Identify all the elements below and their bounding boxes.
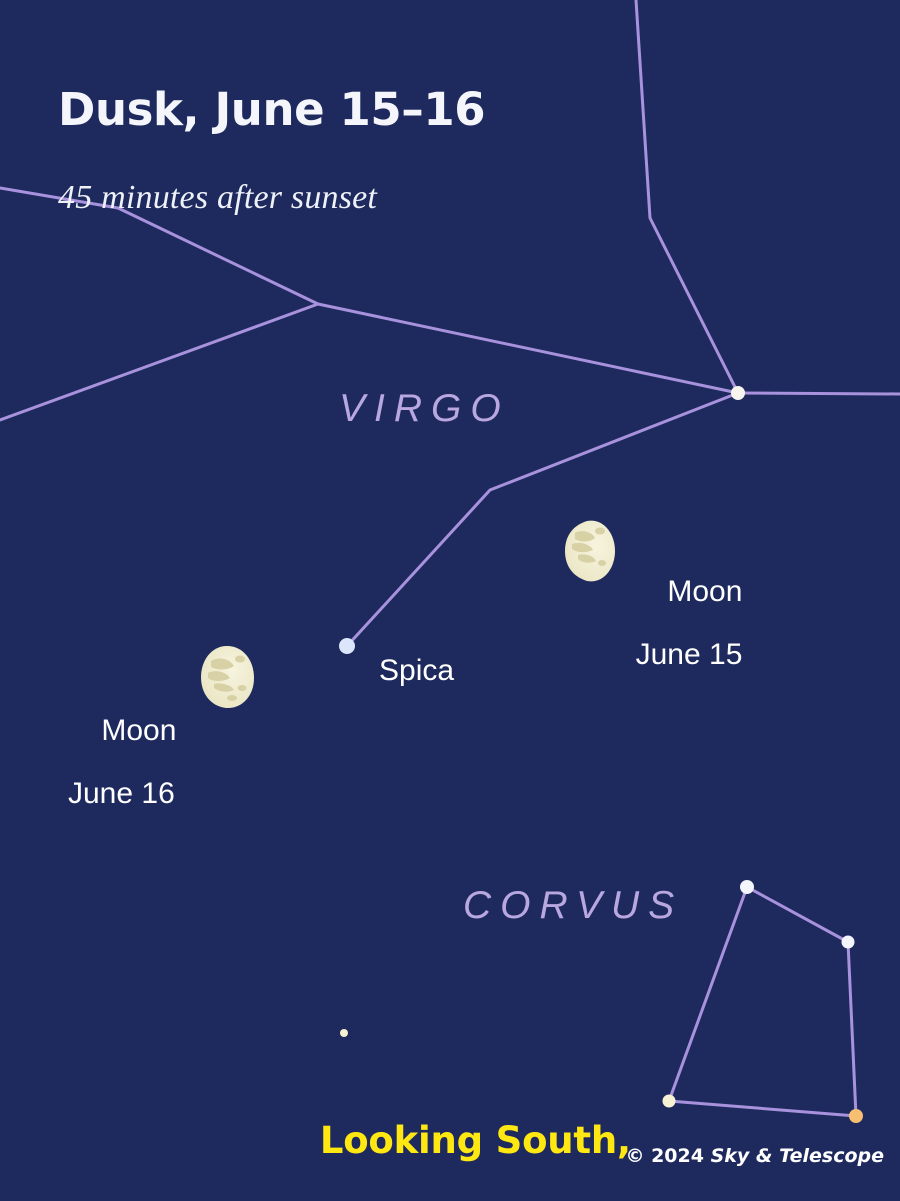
- title-block: Dusk, June 15–16 45 minutes after sunset: [58, 52, 485, 250]
- page-title: Dusk, June 15–16: [58, 86, 485, 133]
- virgo-line-lower-left: [0, 304, 318, 420]
- star-faint-lower-left: [340, 1029, 348, 1037]
- page-subtitle: 45 minutes after sunset: [58, 180, 485, 216]
- moon-june-15-icon: [565, 521, 615, 582]
- star-corvus-delta: [842, 936, 855, 949]
- constellation-label-corvus: CORVUS: [463, 886, 683, 927]
- star-virgo-junction: [731, 386, 745, 400]
- star-label-spica: Spica: [379, 655, 454, 687]
- moon-june-16-icon: [201, 646, 254, 708]
- moon-june-15-label-line1: Moon: [667, 575, 742, 608]
- virgo-line-east: [738, 393, 900, 394]
- copyright-notice: © 2024 Sky & Telescope: [599, 1127, 884, 1187]
- virgo-line-north: [636, 0, 738, 393]
- star-spica: [339, 638, 355, 654]
- sky-chart: Dusk, June 15–16 45 minutes after sunset…: [0, 0, 900, 1201]
- moon-june-16-label: Moon June 16: [68, 683, 176, 872]
- moon-june-15-label: Moon June 15: [634, 544, 742, 733]
- star-corvus-gamma: [740, 880, 754, 894]
- copyright-brand: Sky & Telescope: [711, 1145, 884, 1167]
- moon-june-16-label-line2: June 16: [68, 778, 176, 810]
- constellation-label-virgo: VIRGO: [339, 389, 510, 430]
- viewing-direction-line1: Looking South,: [320, 1119, 631, 1162]
- moon-june-15-label-line2: June 15: [634, 639, 742, 671]
- moon-june-16-label-line1: Moon: [101, 714, 176, 747]
- star-points: [339, 386, 863, 1123]
- copyright-year: © 2024: [625, 1145, 710, 1167]
